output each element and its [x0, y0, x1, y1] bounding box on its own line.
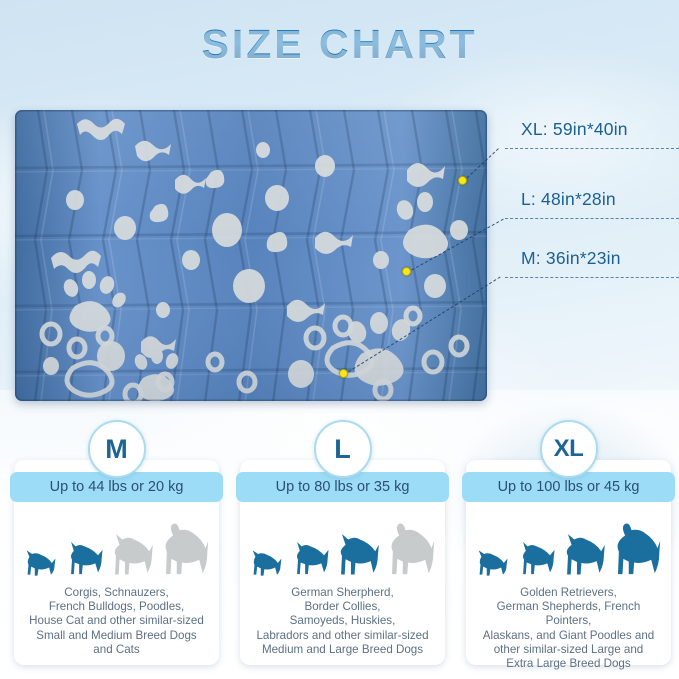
callout-rule-m	[505, 277, 679, 278]
medium-dog-icon	[559, 526, 606, 580]
description-line: Small and Medium Breed Dogs	[21, 629, 212, 643]
description-line: Samoyeds, Huskies,	[247, 614, 438, 628]
description-line: Alaskans, and Giant Poodles and	[473, 629, 664, 643]
callout-label-xl: XL: 59in*40in	[521, 119, 628, 140]
mat-pattern-graphic	[15, 110, 487, 401]
medium-dog-icon	[333, 526, 380, 580]
dog-silhouettes-l	[240, 508, 445, 580]
small-dog-icon	[289, 536, 330, 580]
size-card-l: L Up to 80 lbs or 35 kg German Sherpherd…	[240, 460, 445, 665]
cat-icon	[476, 546, 512, 580]
description-line: other similar-sized Large and	[473, 643, 664, 657]
small-dog-icon	[515, 536, 556, 580]
small-dog-icon	[63, 536, 104, 580]
page-title: SIZE CHART	[0, 21, 679, 68]
callout-rule-l	[505, 218, 679, 219]
description-line: and Cats	[21, 643, 212, 657]
callout-dot-xl	[458, 176, 467, 185]
cat-icon	[250, 546, 286, 580]
description-line: Labradors and other similar-sized	[247, 629, 438, 643]
large-dog-icon	[609, 518, 661, 580]
description-xl: Golden Retrievers, German Shepherds, Fre…	[473, 586, 664, 671]
description-l: German Sherpherd, Border Collies, Samoye…	[247, 586, 438, 657]
description-line: German Shepherds, French Pointers,	[473, 600, 664, 628]
description-line: Golden Retrievers,	[473, 586, 664, 600]
size-card-m: M Up to 44 lbs or 20 kg Corgis, Schnauze…	[14, 460, 219, 665]
callout-label-l: L: 48in*28in	[521, 189, 616, 210]
description-line: House Cat and other similar-sized	[21, 614, 212, 628]
size-badge-m: M	[88, 420, 146, 478]
large-dog-icon	[383, 518, 435, 580]
callout-label-m: M: 36in*23in	[521, 248, 621, 269]
callout-rule-xl	[505, 148, 679, 149]
size-badge-l: L	[314, 420, 372, 478]
description-m: Corgis, Schnauzers, French Bulldogs, Poo…	[21, 586, 212, 657]
description-line: Medium and Large Breed Dogs	[247, 643, 438, 657]
dog-silhouettes-xl	[466, 508, 671, 580]
product-mat-image	[15, 110, 487, 401]
dog-silhouettes-m	[14, 508, 219, 580]
description-line: Corgis, Schnauzers,	[21, 586, 212, 600]
size-badge-xl: XL	[540, 420, 598, 478]
large-dog-icon	[157, 518, 209, 580]
cat-icon	[24, 546, 60, 580]
callout-dot-m	[339, 369, 348, 378]
description-line: German Sherpherd,	[247, 586, 438, 600]
medium-dog-icon	[107, 526, 154, 580]
description-line: Border Collies,	[247, 600, 438, 614]
callout-dot-l	[402, 267, 411, 276]
description-line: Extra Large Breed Dogs	[473, 657, 664, 671]
mat-surface	[15, 110, 487, 401]
description-line: French Bulldogs, Poodles,	[21, 600, 212, 614]
size-card-xl: XL Up to 100 lbs or 45 kg Golden Retriev…	[466, 460, 671, 665]
